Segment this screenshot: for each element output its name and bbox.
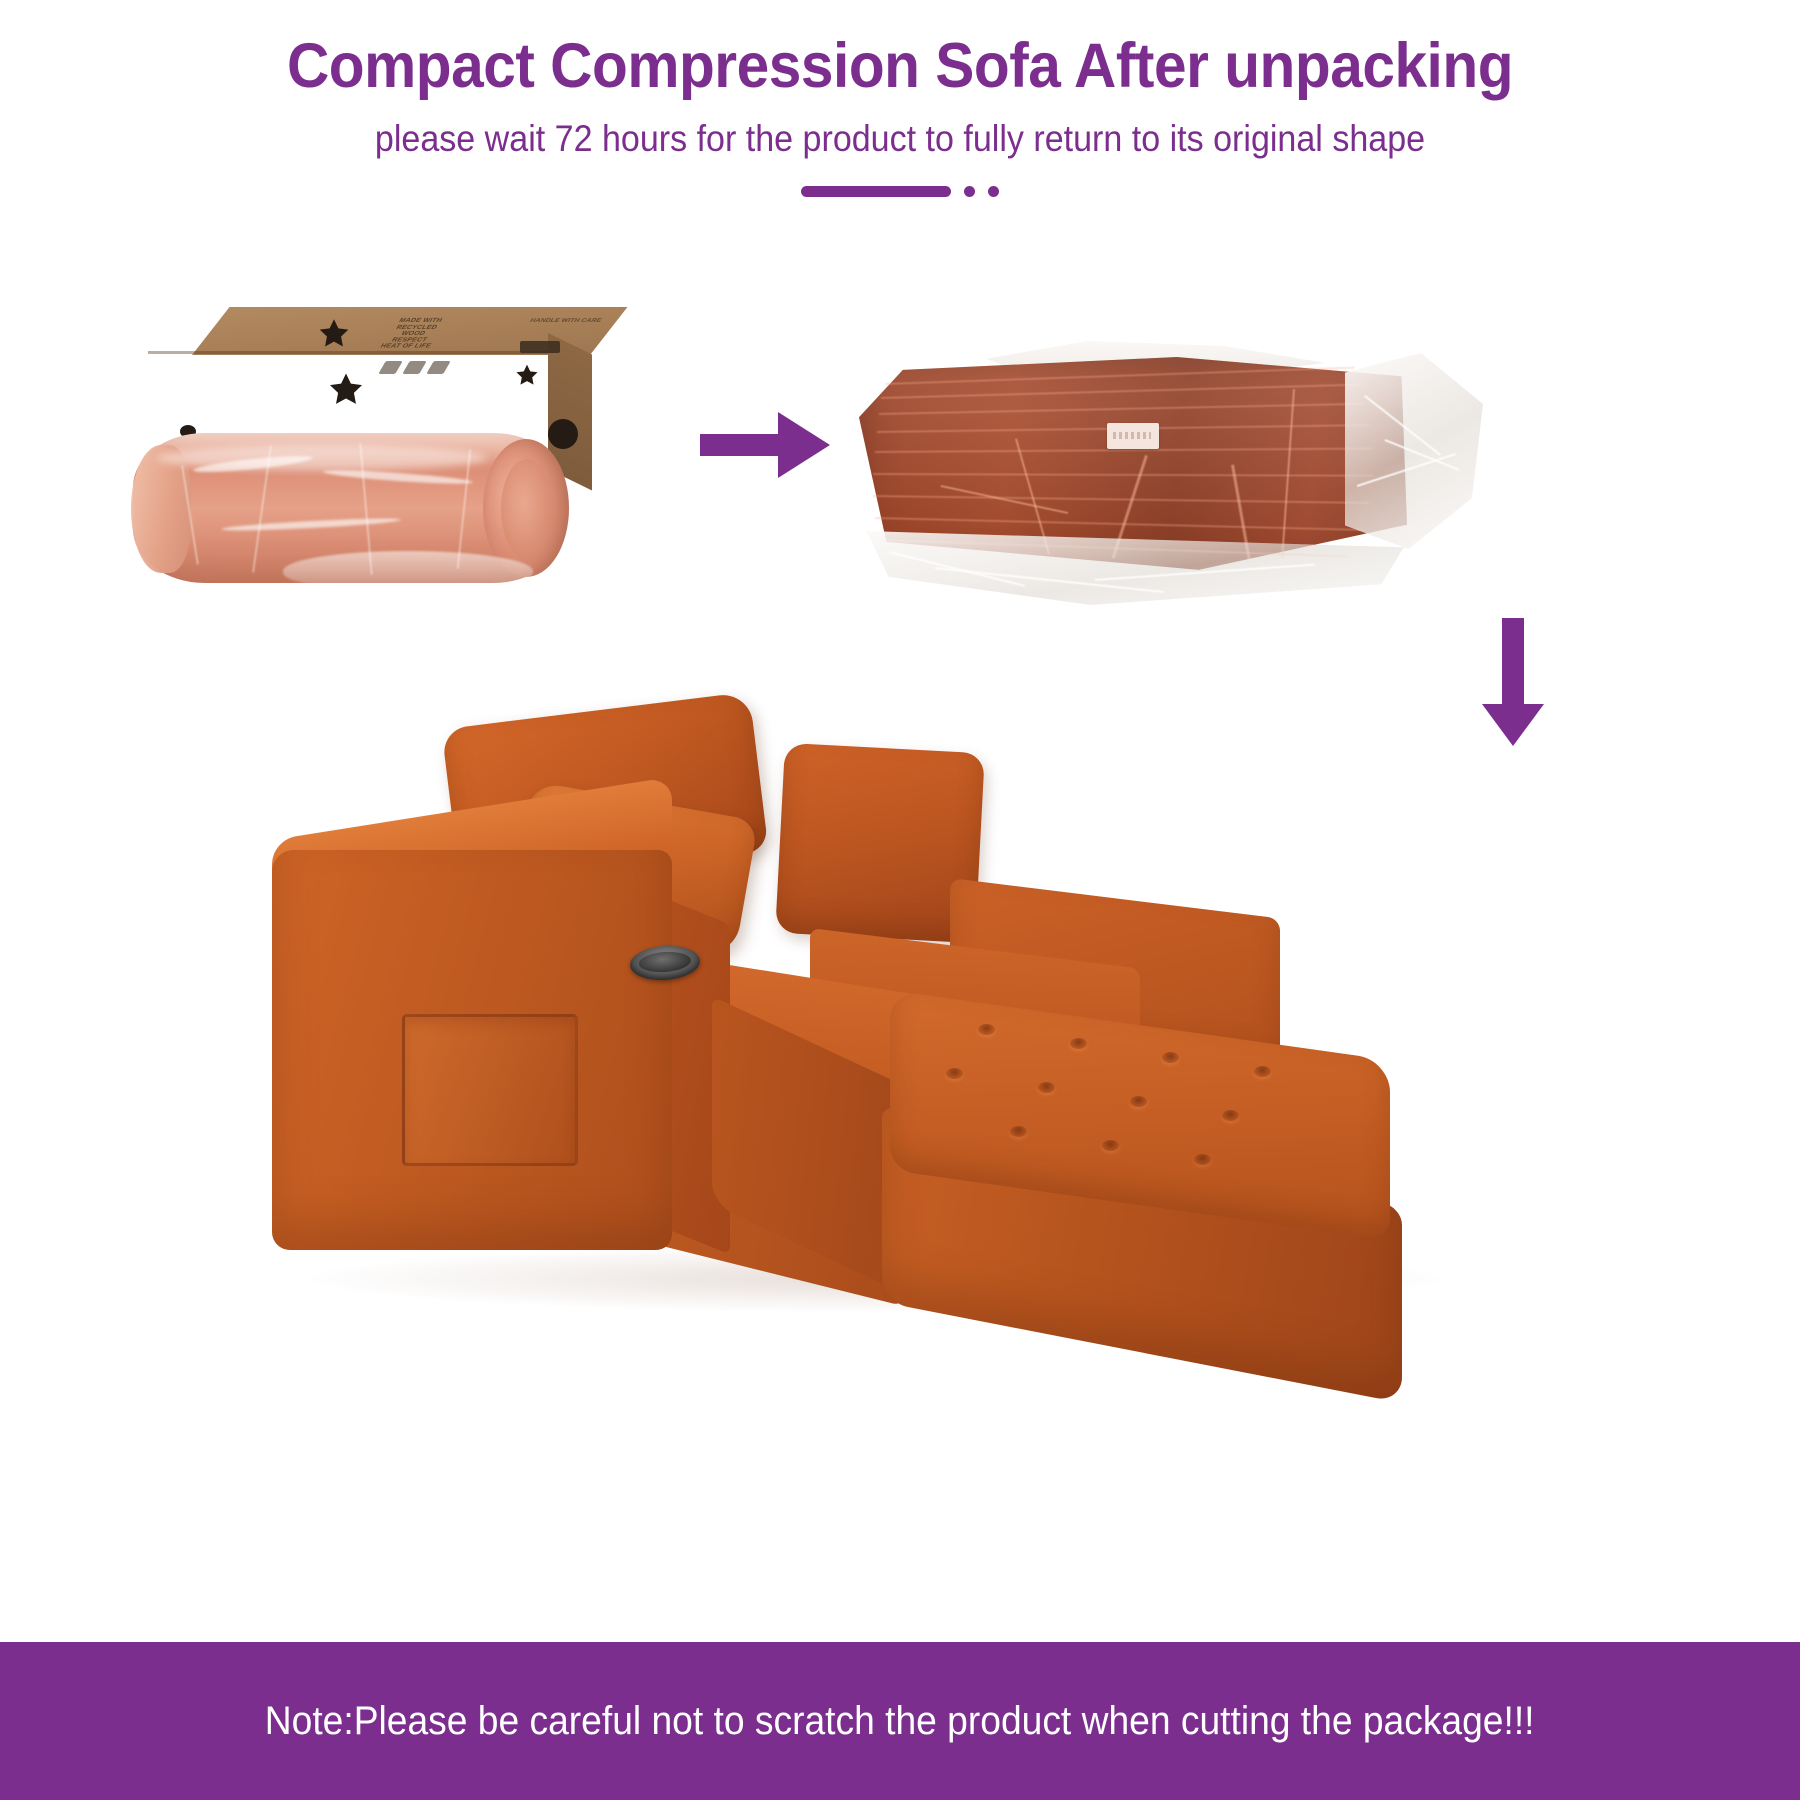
header: Compact Compression Sofa After unpacking… [0,0,1800,230]
compressed-sofa-roll [133,425,565,587]
divider-dot-1 [964,186,975,197]
ottoman-tuft [1102,1140,1119,1151]
cardboard-box-edge [148,351,548,354]
step-boxed-product: MADE WITHRECYCLEDWOODRESPECTHEAT OF LIFE… [130,295,600,595]
ottoman-tuft [1194,1154,1211,1165]
divider-dot-2 [988,186,999,197]
arrow-right-icon [700,410,830,480]
sofa-ottoman [710,990,1390,1300]
ottoman-tuft [1222,1110,1239,1121]
step-unpacked-sofa [250,690,1560,1310]
sofa-side-pocket [402,1014,578,1166]
ottoman-tuft [978,1024,995,1035]
roll-right-cap-inner [501,459,553,559]
divider-bar [801,186,951,197]
wrap-tail [283,551,533,591]
box-icon-2 [402,361,427,374]
bag-label [1107,423,1159,449]
ottoman-tuft [1130,1096,1147,1107]
ottoman-tuft [1070,1038,1087,1049]
footer-note-text: Note:Please be careful not to scratch th… [265,1699,1535,1744]
page-title: Compact Compression Sofa After unpacking [63,30,1737,102]
box-handle-slot [520,341,560,353]
box-print-right: HANDLE WITH CARE [528,318,602,324]
ottoman-tuft [1254,1066,1271,1077]
ottoman-tuft [1010,1126,1027,1137]
footer-banner: Note:Please be careful not to scratch th… [0,1642,1800,1800]
ottoman-tuft [1038,1082,1055,1093]
page-subtitle: please wait 72 hours for the product to … [72,118,1728,160]
ottoman-tuft [946,1068,963,1079]
divider [0,176,1800,206]
ottoman-tuft [1162,1052,1179,1063]
step-vacuum-sealed-bag [845,335,1485,615]
vacuum-bag [845,335,1485,615]
box-print-icons [378,361,451,374]
